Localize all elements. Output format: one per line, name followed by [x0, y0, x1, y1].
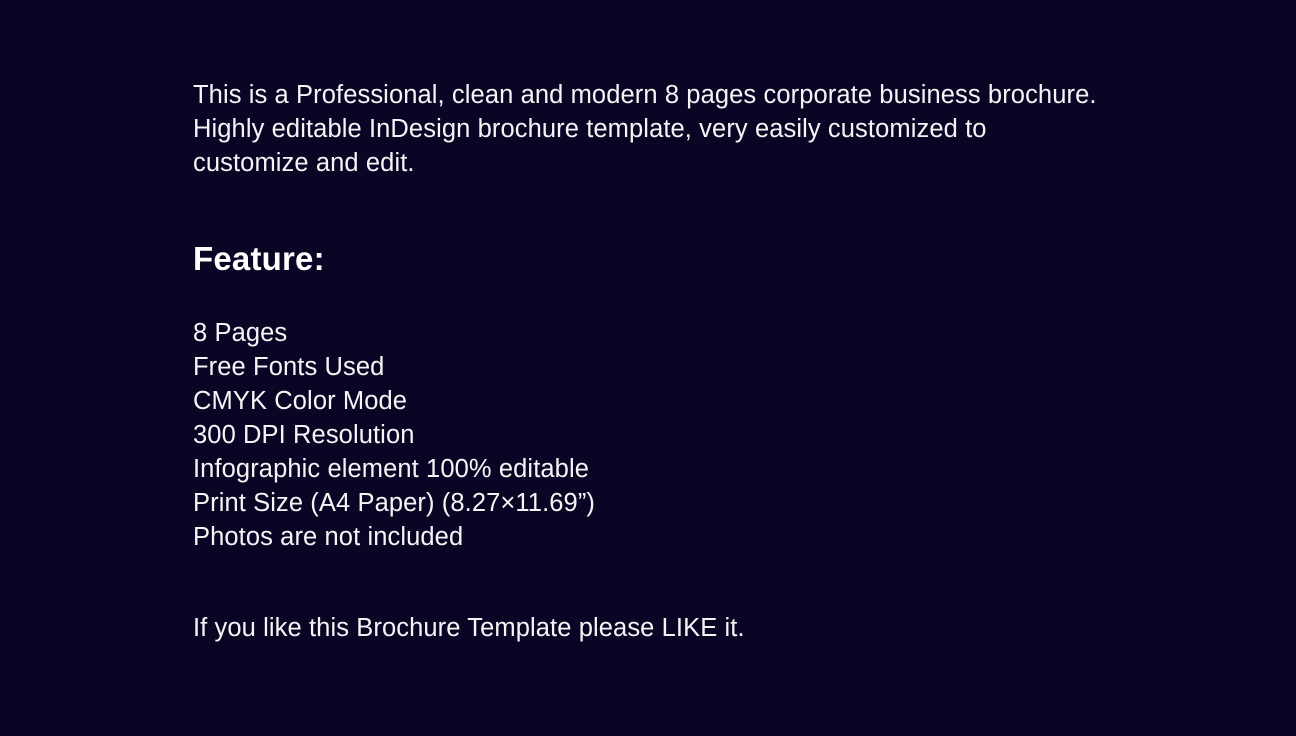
feature-list-item: Photos are not included — [193, 520, 1203, 554]
feature-list-item: 8 Pages — [193, 316, 1203, 350]
content-block: This is a Professional, clean and modern… — [193, 78, 1203, 645]
feature-list-item: 300 DPI Resolution — [193, 418, 1203, 452]
closing-line: If you like this Brochure Template pleas… — [193, 554, 1203, 645]
feature-list-item: Free Fonts Used — [193, 350, 1203, 384]
feature-list: 8 Pages Free Fonts Used CMYK Color Mode … — [193, 279, 1203, 554]
feature-heading: Feature: — [193, 180, 1203, 279]
slide-canvas: This is a Professional, clean and modern… — [0, 0, 1296, 736]
feature-list-item: CMYK Color Mode — [193, 384, 1203, 418]
feature-list-item: Print Size (A4 Paper) (8.27×11.69”) — [193, 486, 1203, 520]
feature-list-item: Infographic element 100% editable — [193, 452, 1203, 486]
intro-paragraph: This is a Professional, clean and modern… — [193, 78, 1108, 180]
